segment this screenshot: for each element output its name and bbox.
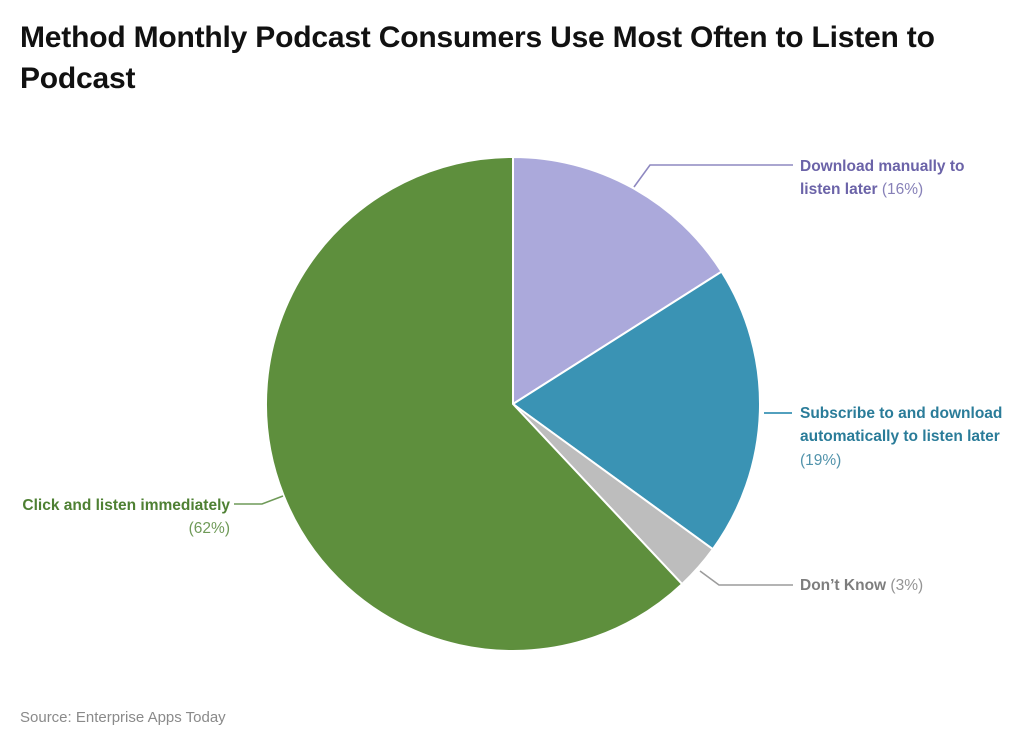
slice-label-text-dont-know: Don’t Know — [800, 577, 886, 594]
slice-label-dont-know: Don’t Know (3%) — [800, 574, 1000, 597]
leader-line-click-listen — [234, 496, 283, 504]
slice-label-download-manually: Download manually to listen later (16%) — [800, 155, 1005, 202]
slice-label-click-listen: Click and listen immediately (62%) — [20, 494, 230, 541]
slice-value-click-listen: (62%) — [189, 520, 230, 537]
slice-value-subscribe-auto: (19%) — [800, 452, 841, 469]
slice-label-subscribe-auto: Subscribe to and download automatically … — [800, 402, 1010, 472]
slice-label-text-click-listen: Click and listen immediately — [22, 497, 230, 514]
slice-value-download-manually: (16%) — [882, 181, 923, 198]
pie-graphic — [0, 0, 1024, 748]
slice-value-dont-know: (3%) — [890, 577, 923, 594]
slice-label-text-subscribe-auto: Subscribe to and download automatically … — [800, 405, 1002, 445]
source-note: Source: Enterprise Apps Today — [20, 709, 226, 726]
leader-line-dont-know — [700, 571, 793, 585]
leader-line-download-manually — [634, 165, 793, 187]
pie-chart-figure: Method Monthly Podcast Consumers Use Mos… — [0, 0, 1024, 748]
